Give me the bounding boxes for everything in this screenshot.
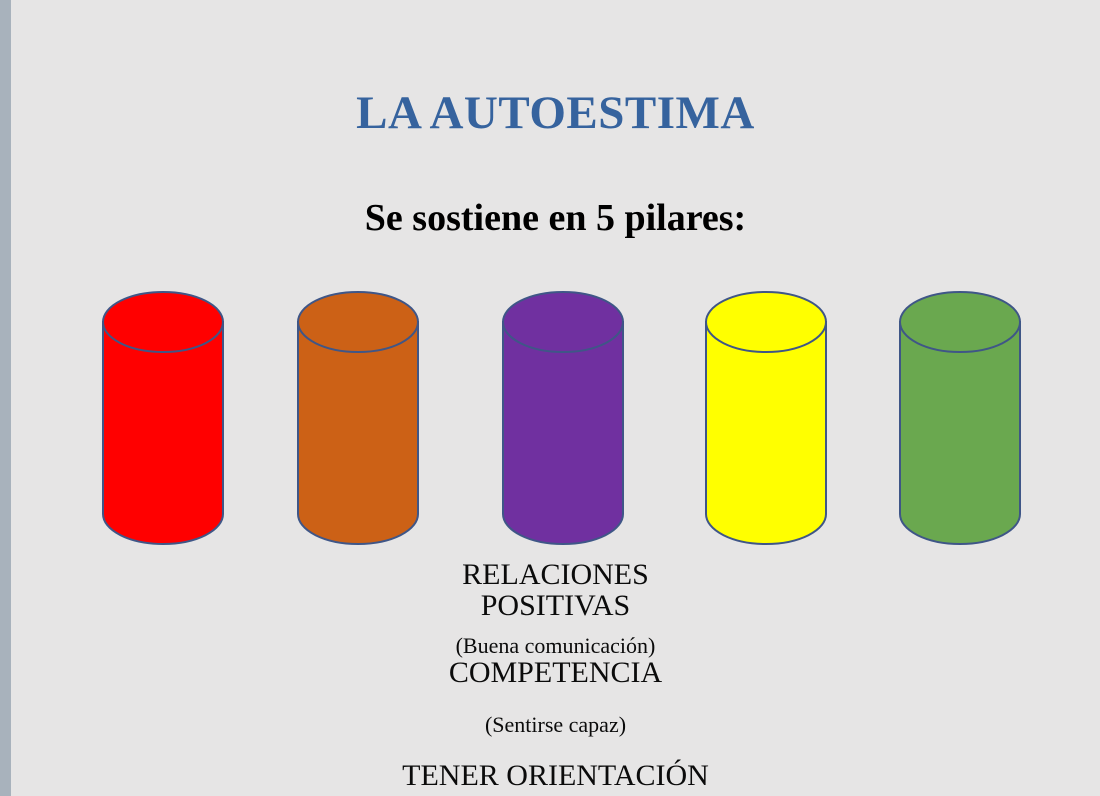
cylinder-shape-yellow bbox=[700, 290, 832, 552]
caption-sentirse-capaz: (Sentirse capaz) bbox=[11, 714, 1100, 736]
caption-relaciones: RELACIONES bbox=[11, 560, 1100, 591]
cylinder-shape-red bbox=[97, 290, 229, 552]
cylinder-shape-orange bbox=[292, 290, 424, 552]
cylinder-top-green bbox=[900, 292, 1020, 352]
left-edge-strip bbox=[0, 0, 11, 796]
cylinder-top-red bbox=[103, 292, 223, 352]
pillar-red bbox=[97, 290, 229, 552]
pillar-orange bbox=[292, 290, 424, 552]
caption-competencia: COMPETENCIA bbox=[11, 658, 1100, 689]
cylinder-top-orange bbox=[298, 292, 418, 352]
cylinder-body-purple bbox=[503, 322, 623, 544]
pillar-captions: RELACIONES POSITIVAS (Buena comunicación… bbox=[11, 560, 1100, 791]
page-title: LA AUTOESTIMA bbox=[11, 88, 1100, 140]
caption-tener-orientacion: TENER ORIENTACIÓN bbox=[11, 761, 1100, 792]
pillars-group bbox=[11, 290, 1100, 550]
cylinder-body-orange bbox=[298, 322, 418, 544]
pillar-purple bbox=[497, 290, 629, 552]
cylinder-top-purple bbox=[503, 292, 623, 352]
cylinder-body-yellow bbox=[706, 322, 826, 544]
cylinder-body-green bbox=[900, 322, 1020, 544]
cylinder-shape-purple bbox=[497, 290, 629, 552]
cylinder-top-yellow bbox=[706, 292, 826, 352]
cylinder-shape-green bbox=[894, 290, 1026, 552]
caption-buena-comunicacion: (Buena comunicación) bbox=[11, 635, 1100, 657]
slide-subtitle: Se sostiene en 5 pilares: bbox=[11, 198, 1100, 240]
pillar-yellow bbox=[700, 290, 832, 552]
cylinder-body-red bbox=[103, 322, 223, 544]
caption-positivas: POSITIVAS bbox=[11, 591, 1100, 622]
slide-canvas: LA AUTOESTIMA Se sostiene en 5 pilares: bbox=[11, 0, 1100, 796]
pillar-green bbox=[894, 290, 1026, 552]
